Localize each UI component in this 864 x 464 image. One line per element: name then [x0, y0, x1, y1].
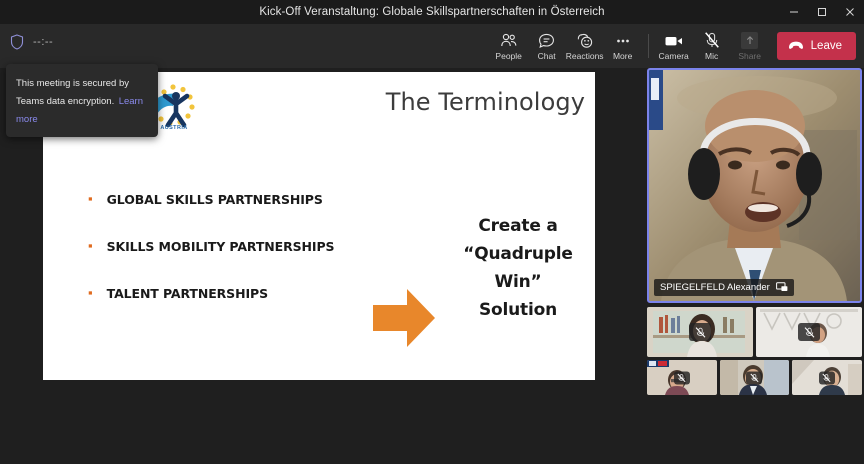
mic-muted-icon [674, 371, 690, 384]
leave-button[interactable]: Leave [777, 32, 856, 60]
active-speaker-name-chip: SPIEGELFELD Alexander [654, 279, 794, 296]
bullet-label: SKILLS MOBILITY PARTNERSHIPS [107, 239, 335, 254]
window-title: Kick-Off Veranstaltung: Globale Skillspa… [259, 6, 604, 18]
bullet-label: GLOBAL SKILLS PARTNERSHIPS [107, 192, 323, 207]
slide-thumbnails-icon[interactable] [155, 460, 179, 464]
more-button[interactable]: More [604, 25, 642, 67]
people-label: People [495, 52, 521, 61]
shield-icon [10, 34, 24, 50]
bullet-dot-icon: ▪ [88, 239, 93, 253]
screen-share-icon [776, 279, 788, 297]
toolbar-divider [648, 34, 649, 58]
encryption-status[interactable]: --:-- [10, 34, 53, 50]
list-item: ▪ SKILLS MOBILITY PARTNERSHIPS [88, 239, 378, 254]
meeting-controls: People Chat [490, 24, 856, 68]
leave-label: Leave [811, 40, 842, 52]
meeting-timer: --:-- [33, 36, 53, 48]
bullet-dot-icon: ▪ [88, 286, 93, 300]
more-options-icon[interactable] [187, 460, 211, 464]
slide-navigation: 3 of 9 [50, 460, 211, 464]
hangup-icon [788, 37, 804, 55]
reactions-button[interactable]: Reactions [566, 25, 604, 67]
conclusion-line-2: “Quadruple Win” [443, 240, 593, 296]
chevron-left-icon[interactable] [50, 460, 74, 464]
list-item: ▪ TALENT PARTNERSHIPS [88, 286, 378, 301]
participant-tile[interactable] [756, 307, 862, 357]
mic-button[interactable]: Mic [693, 25, 731, 67]
chat-label: Chat [538, 52, 556, 61]
conclusion-line-3: Solution [443, 296, 593, 324]
participant-rail: SPIEGELFELD Alexander [645, 68, 864, 464]
active-speaker-video [649, 70, 860, 301]
teams-meeting-window: Kick-Off Veranstaltung: Globale Skillspa… [0, 0, 864, 464]
camera-label: Camera [659, 52, 689, 61]
slide-conclusion: Create a “Quadruple Win” Solution [443, 212, 593, 324]
active-speaker-tile[interactable]: SPIEGELFELD Alexander [647, 68, 862, 303]
mic-muted-icon [746, 371, 762, 384]
participant-tile[interactable] [647, 307, 753, 357]
mic-muted-icon [689, 323, 711, 341]
orange-arrow-icon [373, 287, 435, 354]
conclusion-line-1: Create a [443, 212, 593, 240]
reactions-icon [576, 32, 594, 50]
bullet-label: TALENT PARTNERSHIPS [107, 286, 268, 301]
slide-bullet-list: ▪ GLOBAL SKILLS PARTNERSHIPS ▪ SKILLS MO… [88, 192, 378, 333]
share-icon [741, 32, 758, 50]
maximize-icon[interactable] [808, 0, 836, 24]
people-button[interactable]: People [490, 25, 528, 67]
camera-button[interactable]: Camera [655, 25, 693, 67]
bullet-dot-icon: ▪ [88, 192, 93, 206]
participant-tile[interactable] [720, 360, 790, 395]
window-controls [780, 0, 864, 24]
minimize-icon[interactable] [780, 0, 808, 24]
mic-muted-icon [798, 323, 820, 341]
close-icon[interactable] [836, 0, 864, 24]
mic-label: Mic [705, 52, 718, 61]
more-label: More [613, 52, 632, 61]
chevron-right-icon[interactable] [122, 460, 146, 464]
participant-tile[interactable] [647, 360, 717, 395]
mic-muted-icon [819, 371, 835, 384]
participant-row-3 [647, 360, 862, 395]
camera-icon [664, 32, 684, 50]
encryption-tooltip: This meeting is secured by Teams data en… [6, 64, 158, 137]
participant-tile[interactable] [792, 360, 862, 395]
chat-button[interactable]: Chat [528, 25, 566, 67]
share-button: Share [731, 25, 769, 67]
participant-row-4: VF +23 MOI ИМЗ [647, 401, 862, 463]
encryption-tooltip-text: This meeting is secured by Teams data en… [16, 78, 129, 107]
title-bar: Kick-Off Veranstaltung: Globale Skillspa… [0, 0, 864, 24]
meeting-action-bar: --:-- People [0, 24, 864, 68]
mic-muted-icon [704, 32, 720, 50]
participant-row-2 [647, 307, 862, 357]
reactions-label: Reactions [566, 52, 604, 61]
share-label: Share [738, 52, 761, 61]
slide-title: The Terminology [386, 88, 585, 116]
more-icon [614, 32, 632, 50]
chat-icon [538, 32, 555, 50]
list-item: ▪ GLOBAL SKILLS PARTNERSHIPS [88, 192, 378, 207]
people-icon [500, 32, 518, 50]
active-speaker-name: SPIEGELFELD Alexander [660, 282, 770, 293]
